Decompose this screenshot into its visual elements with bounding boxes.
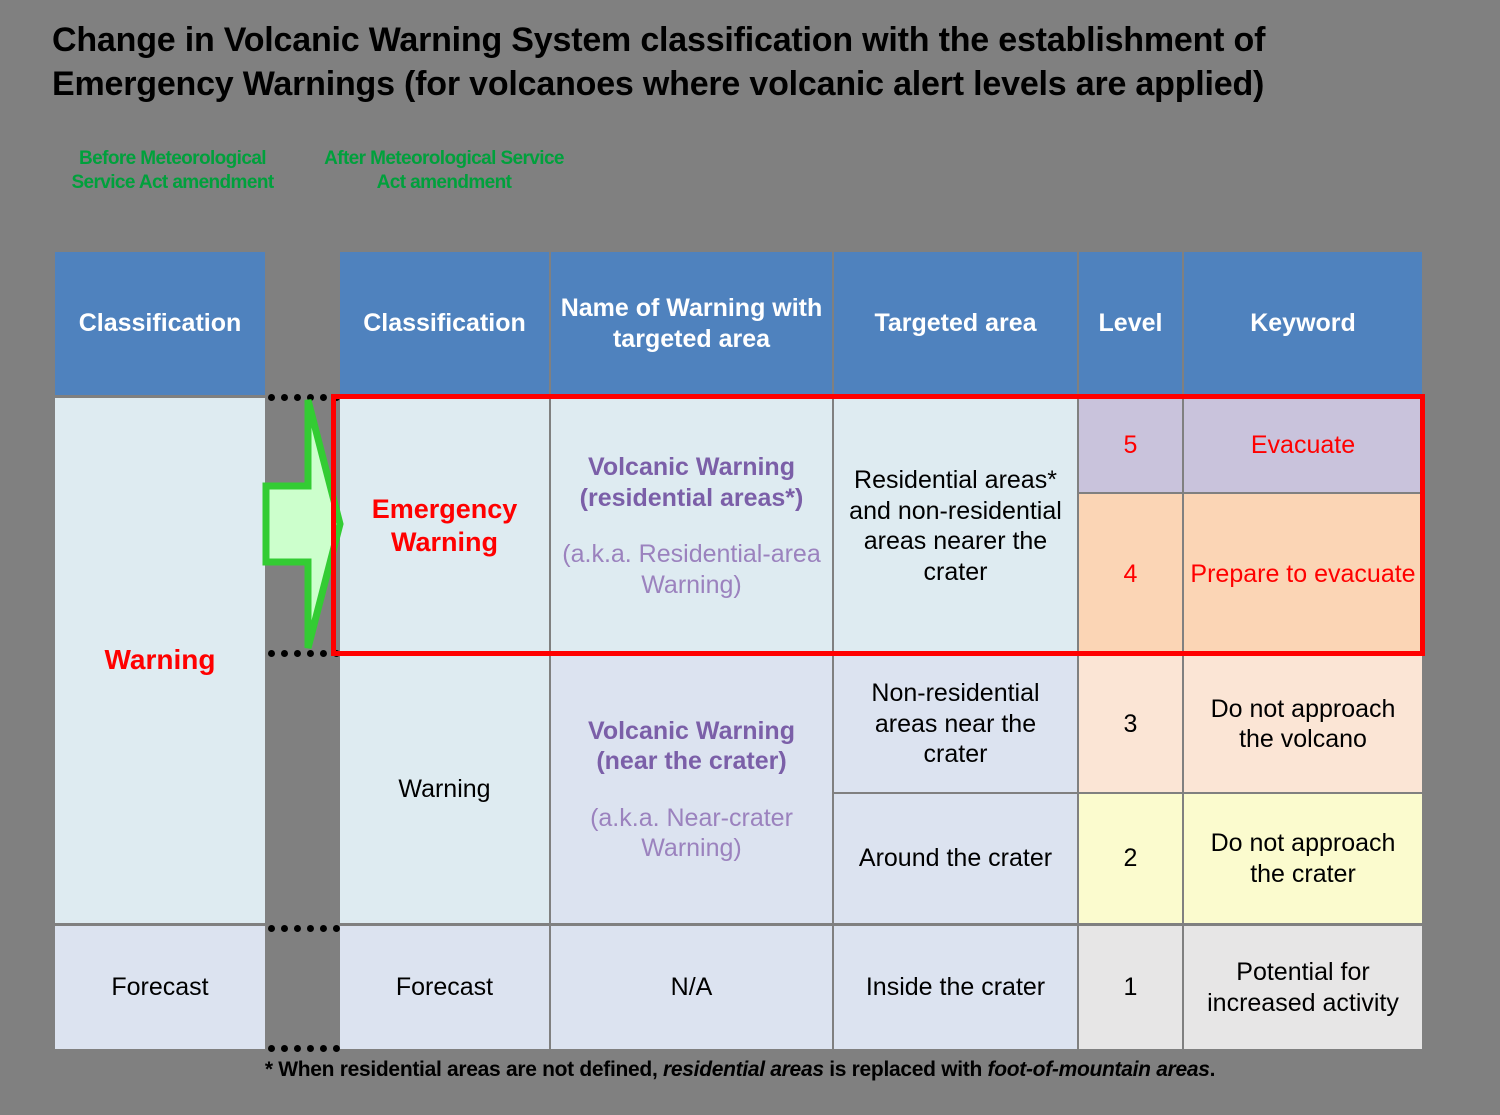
classification-table: Classification Classification Name of Wa… [55,252,1422,1049]
level-5-keyword: Evacuate [1184,398,1422,492]
page-title: Change in Volcanic Warning System classi… [52,18,1462,106]
footnote-middle: is replaced with [824,1058,988,1081]
footnote-italic-1: residential areas [663,1058,824,1081]
emergency-targeted-area: Residential areas* and non-residential a… [834,398,1077,654]
footnote-italic-2: foot-of-mountain areas [988,1058,1210,1081]
old-classification-forecast: Forecast [55,926,265,1049]
header-targeted-area: Targeted area [834,252,1077,395]
footnote-suffix: . [1210,1058,1216,1081]
level-1-keyword: Potential for increased activity [1184,926,1422,1049]
after-amendment-label: After Meteorological Service Act amendme… [320,147,568,196]
header-keyword: Keyword [1184,252,1422,395]
title-line-1: Change in Volcanic Warning System classi… [52,21,1265,59]
warning-name: Volcanic Warning (near the crater) [557,716,826,777]
header-name-of-warning: Name of Warning with targeted area [551,252,832,395]
new-classification-emergency-warning: Emergency Warning [340,398,549,654]
level-5-value: 5 [1079,398,1182,492]
level-3-keyword: Do not approach the volcano [1184,656,1422,792]
level-3-targeted-area: Non-residential areas near the crater [834,656,1077,792]
header-level: Level [1079,252,1182,395]
warning-alias: (a.k.a. Near-crater Warning) [557,803,826,864]
footnote-prefix: * When residential areas are not defined… [265,1058,663,1081]
level-2-keyword: Do not approach the crater [1184,794,1422,923]
forecast-targeted-area: Inside the crater [834,926,1077,1049]
level-4-keyword: Prepare to evacuate [1184,494,1422,654]
right-arrow-icon [262,396,344,652]
old-classification-warning: Warning [55,398,265,923]
emergency-warning-alias: (a.k.a. Residential-area Warning) [557,539,826,600]
level-2-value: 2 [1079,794,1182,923]
level-1-value: 1 [1079,926,1182,1049]
footnote: * When residential areas are not defined… [55,1058,1425,1082]
forecast-warning-name: N/A [551,926,832,1049]
connector-line-lower [268,1045,340,1052]
level-2-targeted-area: Around the crater [834,794,1077,923]
title-line-2: Emergency Warnings (for volcanoes where … [52,62,1462,106]
header-new-classification: Classification [340,252,549,395]
level-3-value: 3 [1079,656,1182,792]
header-old-classification: Classification [55,252,265,395]
new-classification-forecast: Forecast [340,926,549,1049]
emergency-warning-name: Volcanic Warning (residential areas*) [557,452,826,513]
before-amendment-label: Before Meteorological Service Act amendm… [45,147,300,196]
level-4-value: 4 [1079,494,1182,654]
connector-line-bottom [268,925,340,932]
new-classification-warning: Warning [340,656,549,923]
